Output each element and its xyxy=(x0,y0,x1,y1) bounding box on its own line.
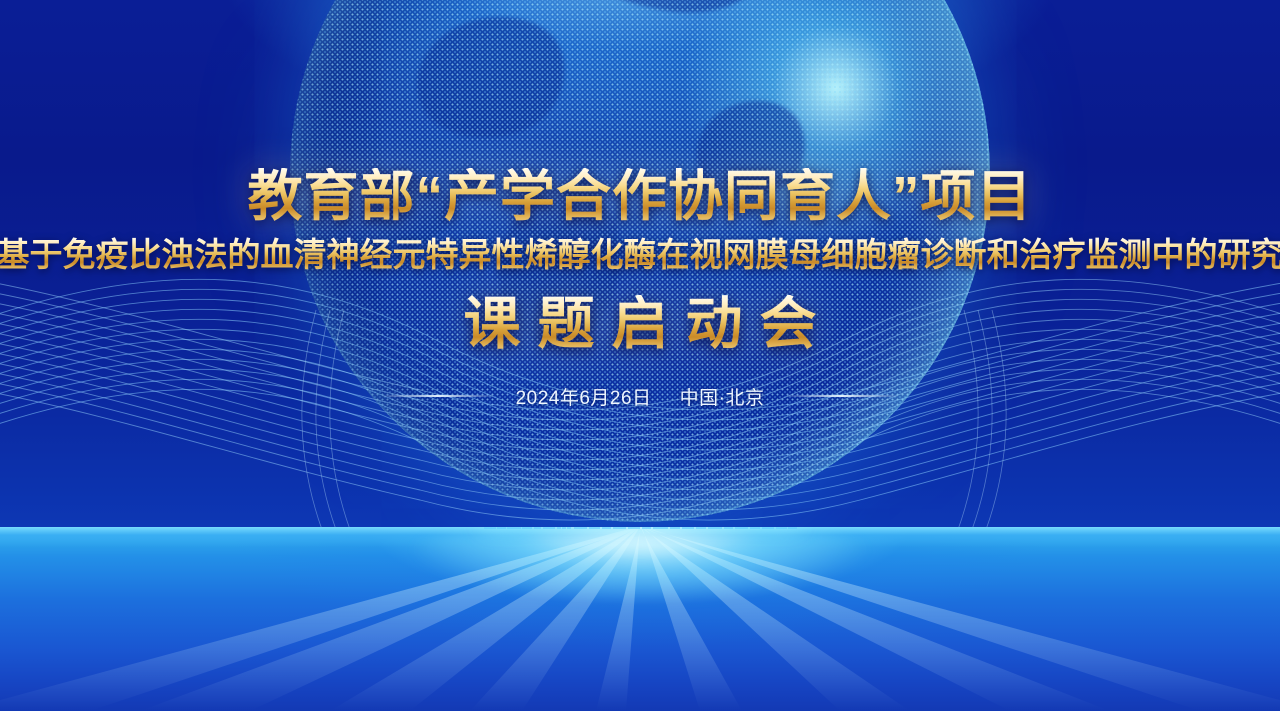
poster-canvas: 教育部“产学合作协同育人”项目 《基于免疫比浊法的血清神经元特异性烯醇化酶在视网… xyxy=(0,0,1280,711)
meta-text-group: 2024年6月26日 中国·北京 xyxy=(516,383,765,410)
event-meta: 2024年6月26日 中国·北京 xyxy=(382,383,899,410)
event-location: 中国·北京 xyxy=(680,383,765,410)
page-title: 教育部“产学合作协同育人”项目 xyxy=(247,168,1032,226)
event-date: 2024年6月26日 xyxy=(516,383,652,410)
divider-line-right xyxy=(786,395,898,397)
poster-content: 教育部“产学合作协同育人”项目 《基于免疫比浊法的血清神经元特异性烯醇化酶在视网… xyxy=(0,0,1280,711)
project-subtitle: 《基于免疫比浊法的血清神经元特异性烯醇化酶在视网膜母细胞瘤诊断和治疗监测中的研究… xyxy=(0,237,1280,273)
divider-line-left xyxy=(382,395,494,397)
event-title: 课题启动会 xyxy=(447,295,834,355)
